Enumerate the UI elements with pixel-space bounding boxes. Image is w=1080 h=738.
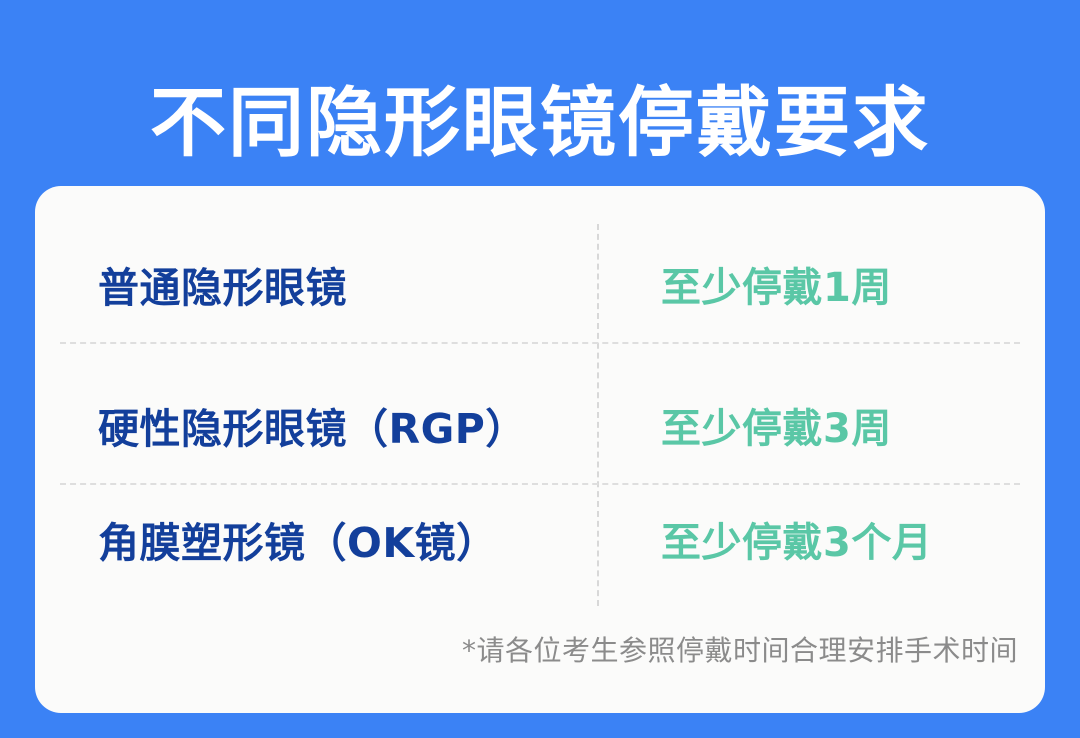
table-row: 角膜塑形镜（OK镜） 至少停戴3个月 — [35, 468, 1045, 609]
lens-type-label: 硬性隐形眼镜（RGP） — [35, 395, 597, 455]
table-row: 普通隐形眼镜 至少停戴1周 — [35, 213, 1045, 354]
stop-duration-value: 至少停戴3周 — [597, 396, 1045, 454]
stop-duration-value: 至少停戴3个月 — [597, 510, 1045, 568]
stop-duration-value: 至少停戴1周 — [597, 255, 1045, 313]
lens-type-label: 普通隐形眼镜 — [35, 254, 597, 314]
info-card: 普通隐形眼镜 至少停戴1周 硬性隐形眼镜（RGP） 至少停戴3周 角膜塑形镜（O… — [35, 186, 1045, 713]
row-separator — [60, 342, 1020, 344]
page-title: 不同隐形眼镜停戴要求 — [150, 85, 930, 161]
lens-table: 普通隐形眼镜 至少停戴1周 硬性隐形眼镜（RGP） 至少停戴3周 角膜塑形镜（O… — [35, 186, 1045, 609]
footnote-text: *请各位考生参照停戴时间合理安排手术时间 — [462, 629, 1018, 669]
poster-root: 不同隐形眼镜停戴要求 普通隐形眼镜 至少停戴1周 硬性隐形眼镜（RGP） 至少停… — [0, 0, 1080, 738]
lens-type-label: 角膜塑形镜（OK镜） — [35, 509, 597, 569]
